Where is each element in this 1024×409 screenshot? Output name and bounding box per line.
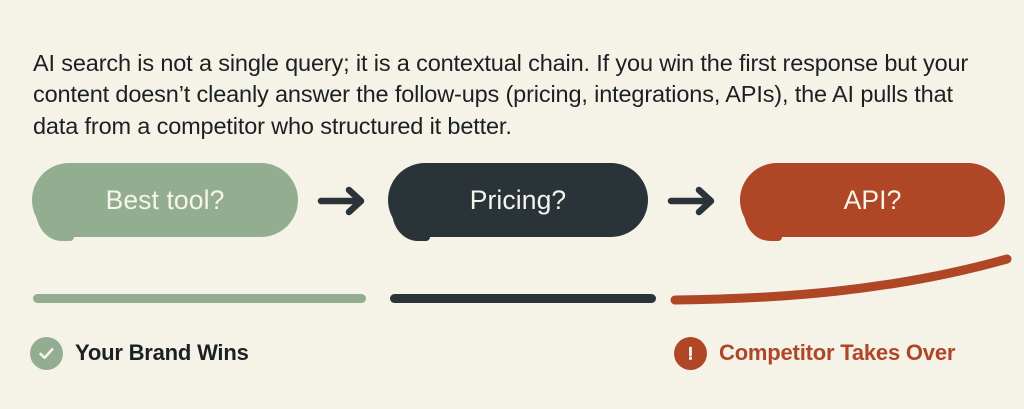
rule-dark	[390, 294, 656, 303]
check-circle-icon	[30, 337, 63, 370]
outcome-row: Your Brand Wins Competitor Takes Over	[0, 334, 1024, 380]
outcome-label-your-brand-wins: Your Brand Wins	[75, 340, 249, 366]
trend-lines	[0, 250, 1024, 312]
bubble-label-api: API?	[844, 185, 902, 216]
rule-curve-rising	[668, 250, 1014, 312]
rule-green	[33, 294, 366, 303]
outcome-competitor-takes-over: Competitor Takes Over	[674, 334, 955, 372]
bubble-label-pricing: Pricing?	[470, 185, 567, 216]
bubble-best-tool: Best tool?	[32, 163, 298, 237]
bubble-tail-icon	[36, 215, 76, 249]
bubble-api: API?	[740, 163, 1005, 237]
query-chain: Best tool? Pricing? API?	[0, 158, 1024, 253]
bubble-label-best-tool: Best tool?	[106, 185, 225, 216]
outcome-your-brand-wins: Your Brand Wins	[30, 334, 249, 372]
bubble-tail-icon	[392, 215, 432, 249]
intro-paragraph: AI search is not a single query; it is a…	[33, 48, 1001, 143]
bubble-tail-icon	[744, 215, 784, 249]
outcome-label-competitor-takes-over: Competitor Takes Over	[719, 340, 955, 366]
infographic-canvas: AI search is not a single query; it is a…	[0, 0, 1024, 409]
alert-circle-icon	[674, 337, 707, 370]
arrow-right-icon	[316, 184, 372, 218]
bubble-pricing: Pricing?	[388, 163, 648, 237]
arrow-right-icon	[666, 184, 722, 218]
